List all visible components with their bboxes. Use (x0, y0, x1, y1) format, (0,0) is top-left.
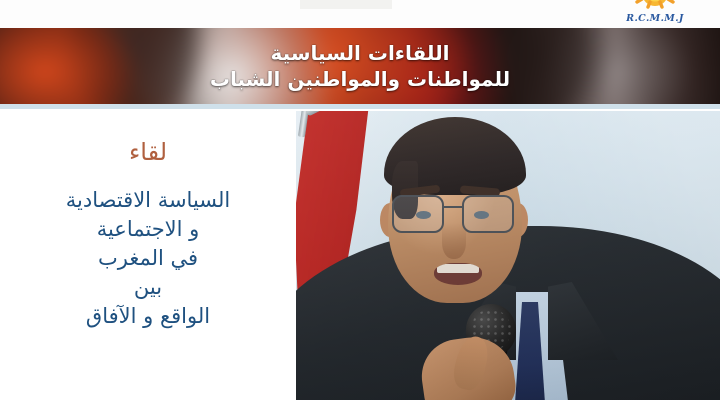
event-poster: R.C.M.M.J اللقاءات السياسية للمواطنات وا… (0, 0, 720, 400)
event-text-panel: لقاء السياسة الاقتصادية و الاجتماعية في … (0, 109, 296, 400)
photo-teeth (437, 264, 479, 273)
photo-glasses-bridge (444, 206, 464, 208)
event-kicker: لقاء (129, 139, 167, 165)
photo-mouth (434, 263, 482, 285)
banner-headline: اللقاءات السياسية للمواطنات والمواطنين ا… (0, 28, 720, 104)
rcmmj-logo: R.C.M.M.J (608, 0, 702, 28)
sunburst-gear-icon (626, 0, 684, 16)
subject-line-3: في المغرب (98, 245, 198, 273)
photo-nose (442, 223, 466, 259)
headline-banner: اللقاءات السياسية للمواطنات والمواطنين ا… (0, 28, 720, 104)
photo-lens-right (462, 195, 514, 233)
subject-line-5: الواقع و الآفاق (86, 303, 210, 331)
subject-line-4: بين (134, 274, 162, 302)
subject-line-1: السياسة الاقتصادية (66, 187, 230, 215)
top-placeholder-box (300, 0, 392, 9)
photo-lens-left (392, 195, 444, 233)
banner-line-2: للمواطنات والمواطنين الشباب (210, 67, 510, 91)
banner-line-1: اللقاءات السياسية (271, 41, 450, 65)
subject-line-2: و الاجتماعية (97, 216, 200, 244)
speaker-photo (296, 111, 720, 400)
banner-divider (0, 104, 720, 109)
event-subject: السياسة الاقتصادية و الاجتماعية في المغر… (66, 187, 230, 331)
